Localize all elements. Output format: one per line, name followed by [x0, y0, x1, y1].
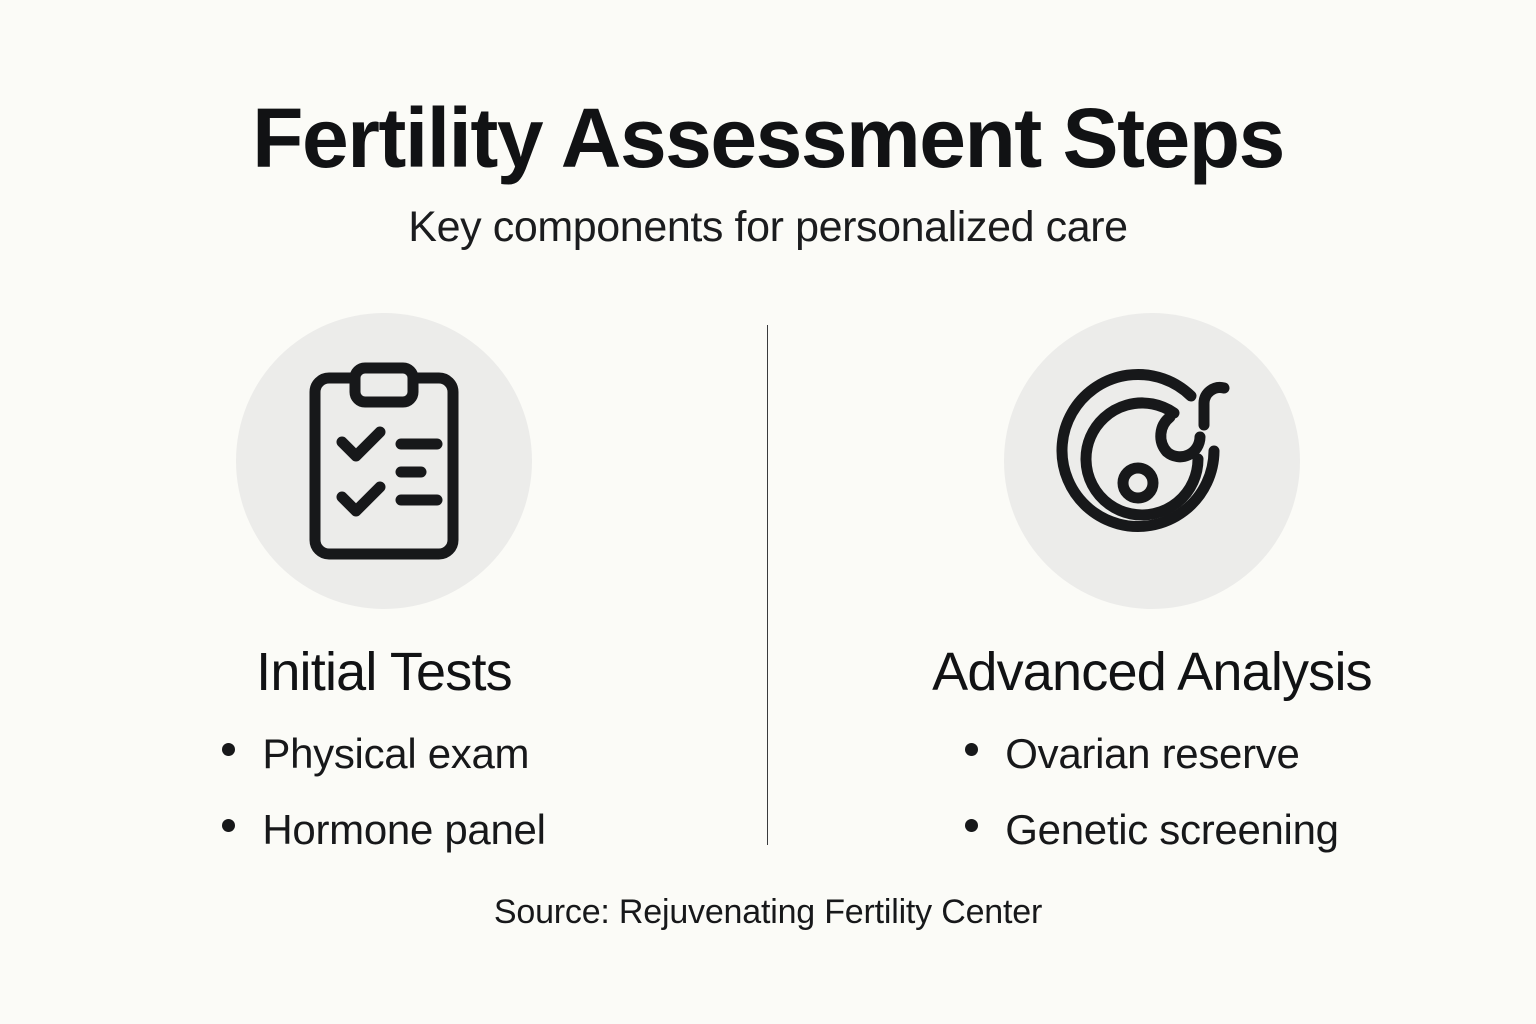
icon-badge-advanced-analysis	[1004, 313, 1300, 609]
column-advanced-analysis: Advanced Analysis Ovarian reserve Geneti…	[768, 313, 1536, 851]
column-heading-advanced-analysis: Advanced Analysis	[932, 645, 1372, 699]
column-initial-tests: Initial Tests Physical exam Hormone pane…	[0, 313, 768, 851]
bullet-dot-icon	[222, 819, 235, 832]
list-item: Physical exam	[222, 733, 529, 775]
bullet-list-advanced-analysis: Ovarian reserve Genetic screening	[965, 733, 1338, 851]
page-title: Fertility Assessment Steps	[0, 96, 1536, 180]
page-subtitle: Key components for personalized care	[0, 206, 1536, 249]
list-item-label: Physical exam	[262, 733, 529, 775]
list-item: Ovarian reserve	[965, 733, 1299, 775]
column-divider	[767, 325, 768, 845]
source-attribution: Source: Rejuvenating Fertility Center	[0, 893, 1536, 932]
infographic-canvas: Fertility Assessment Steps Key component…	[0, 0, 1536, 1024]
columns-container: Initial Tests Physical exam Hormone pane…	[0, 313, 1536, 851]
icon-badge-initial-tests	[236, 313, 532, 609]
list-item-label: Hormone panel	[262, 809, 545, 851]
column-heading-initial-tests: Initial Tests	[256, 645, 512, 699]
list-item-label: Ovarian reserve	[1005, 733, 1299, 775]
ovum-fertilization-icon	[1054, 363, 1250, 559]
clipboard-checklist-icon	[309, 362, 459, 560]
list-item: Hormone panel	[222, 809, 545, 851]
bullet-list-initial-tests: Physical exam Hormone panel	[222, 733, 545, 851]
list-item-label: Genetic screening	[1005, 809, 1338, 851]
bullet-dot-icon	[965, 743, 978, 756]
list-item: Genetic screening	[965, 809, 1338, 851]
header: Fertility Assessment Steps Key component…	[0, 96, 1536, 249]
bullet-dot-icon	[965, 819, 978, 832]
bullet-dot-icon	[222, 743, 235, 756]
